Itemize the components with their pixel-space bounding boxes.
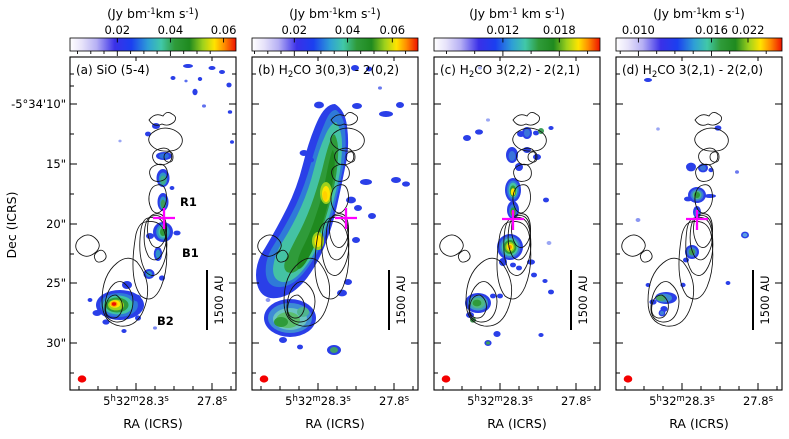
colorbar-tick-d-2: 0.022: [732, 23, 765, 37]
map-bg-d: [616, 57, 782, 390]
dec-tick-label-2: 20": [46, 217, 66, 231]
panel-label-a: (a) SiO (5-4): [76, 63, 150, 77]
colorbar-tick-a-0: 0.02: [104, 23, 130, 37]
figure-root: Dec (ICRS) -5°34'10" 15" 20" 25" 30" (Jy…: [0, 0, 789, 439]
dec-tick-label-1: 15": [46, 157, 66, 171]
colorbar-tick-a-1: 0.04: [158, 23, 184, 37]
colorbar-gradient-b: [252, 38, 418, 51]
map-panel-d: [616, 57, 782, 390]
source-label-b1: B1: [182, 246, 199, 260]
scalebar-label-b: 1500 AU: [394, 275, 408, 324]
scalebar-label-c: 1500 AU: [576, 275, 590, 324]
map-panel-b: [252, 57, 418, 390]
y-axis-label: Dec (ICRS): [4, 192, 19, 259]
dec-tick-label-0: -5°34'10": [11, 97, 66, 111]
colorbar-tick-d-0: 0.010: [622, 23, 655, 37]
panel-label-c-pre: (c) H: [440, 63, 469, 77]
source-label-b2: B2: [157, 314, 174, 328]
dec-tick-label-3: 25": [46, 276, 66, 290]
colorbar-tick-d-1: 0.016: [695, 23, 728, 37]
colorbar-gradient-d: [616, 38, 782, 51]
colorbar-gradient-c: [434, 38, 600, 51]
colorbar-tick-c-0: 0.012: [486, 23, 519, 37]
colorbar-tick-b-2: 0.06: [379, 23, 405, 37]
colorbar-tick-a-2: 0.06: [211, 23, 237, 37]
colorbar-units-c: (Jy bm-1 km s-1): [469, 6, 565, 21]
beam-ellipse-b: [260, 375, 269, 382]
source-label-r1: R1: [180, 195, 197, 209]
colorbar-tick-b-0: 0.02: [281, 23, 307, 37]
colorbar-tick-c-1: 0.018: [543, 23, 576, 37]
x-axis-label-c: RA (ICRS): [487, 416, 547, 431]
beam-ellipse-a: [78, 375, 87, 382]
x-axis-label-b: RA (ICRS): [305, 416, 365, 431]
x-axis-label-d: RA (ICRS): [669, 416, 729, 431]
colorbar-tick-b-1: 0.04: [335, 23, 361, 37]
scalebar-label-a: 1500 AU: [212, 275, 226, 324]
map-bg-c: [434, 57, 600, 390]
dec-tick-label-4: 30": [46, 336, 66, 350]
panel-label-b-pre: (b) H: [258, 63, 288, 77]
map-panel-c: [434, 57, 600, 390]
beam-ellipse-d: [624, 375, 633, 382]
colorbar-gradient-a: [70, 38, 236, 51]
panel-label-d-pre: (d) H: [622, 63, 652, 77]
astronomy-figure: Dec (ICRS) -5°34'10" 15" 20" 25" 30" (Jy…: [0, 0, 789, 439]
map-panel-a: [70, 57, 236, 390]
beam-ellipse-c: [442, 375, 451, 382]
map-bg-a: [70, 57, 236, 390]
x-axis-label-a: RA (ICRS): [123, 416, 183, 431]
scalebar-label-d: 1500 AU: [758, 275, 772, 324]
